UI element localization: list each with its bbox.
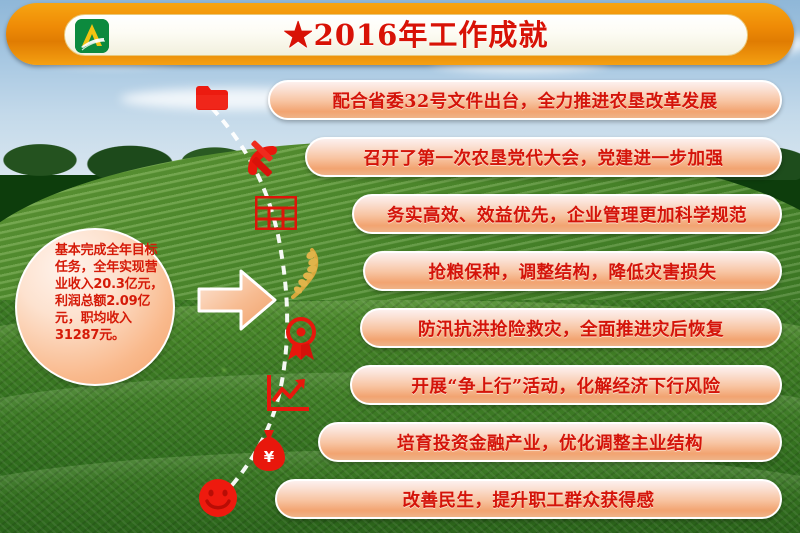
summary-callout: 基本完成全年目标任务，全年实现营业收入20.3亿元，利润总额2.09亿元，职均收…: [15, 228, 175, 386]
achievement-pill-6[interactable]: 开展“争上行”活动，化解经济下行风险: [350, 365, 782, 405]
achievement-text: 改善民生，提升职工群众获得感: [403, 487, 655, 512]
grid-table-icon: [255, 196, 297, 234]
achievement-text: 培育投资金融产业，优化调整主业结构: [397, 430, 703, 455]
achievement-text: 召开了第一次农垦党代大会，党建进一步加强: [364, 145, 724, 170]
header-inner-panel: ★2016年工作成就: [64, 14, 748, 56]
achievement-text: 防汛抗洪抢险救灾，全面推进灾后恢复: [418, 316, 724, 341]
right-arrow-shape: [196, 263, 278, 337]
folder-icon: [194, 83, 230, 117]
wheat-icon: [286, 247, 322, 303]
money-bag-icon: ¥: [251, 428, 287, 476]
hammer-sickle-icon: [242, 140, 282, 184]
smiley-face-icon: [198, 478, 238, 522]
svg-text:¥: ¥: [264, 448, 275, 466]
achievement-pill-5[interactable]: 防汛抗洪抢险救灾，全面推进灾后恢复: [360, 308, 782, 348]
header-banner: ★2016年工作成就: [6, 3, 794, 65]
achievement-pill-1[interactable]: 配合省委32号文件出台，全力推进农垦改革发展: [268, 80, 782, 120]
rising-chart-icon: [265, 375, 309, 417]
achievement-text: 抢粮保种，调整结构，降低灾害损失: [429, 259, 717, 284]
achievement-pill-4[interactable]: 抢粮保种，调整结构，降低灾害损失: [363, 251, 782, 291]
achievement-pill-2[interactable]: 召开了第一次农垦党代大会，党建进一步加强: [305, 137, 782, 177]
achievement-pill-8[interactable]: 改善民生，提升职工群众获得感: [275, 479, 782, 519]
achievement-text: 务实高效、效益优先，企业管理更加科学规范: [387, 202, 747, 227]
page-title: ★2016年工作成就: [65, 14, 747, 56]
achievement-pill-3[interactable]: 务实高效、效益优先，企业管理更加科学规范: [352, 194, 782, 234]
achievement-text: 开展“争上行”活动，化解经济下行风险: [411, 373, 720, 398]
slide-canvas: ★2016年工作成就: [0, 0, 800, 533]
achievement-pill-7[interactable]: 培育投资金融产业，优化调整主业结构: [318, 422, 782, 462]
achievement-text: 配合省委32号文件出台，全力推进农垦改革发展: [332, 88, 717, 113]
award-ribbon-icon: [283, 317, 319, 365]
nongken-logo-icon: [75, 19, 109, 53]
summary-text: 基本完成全年目标任务，全年实现营业收入20.3亿元，利润总额2.09亿元，职均收…: [55, 242, 167, 344]
